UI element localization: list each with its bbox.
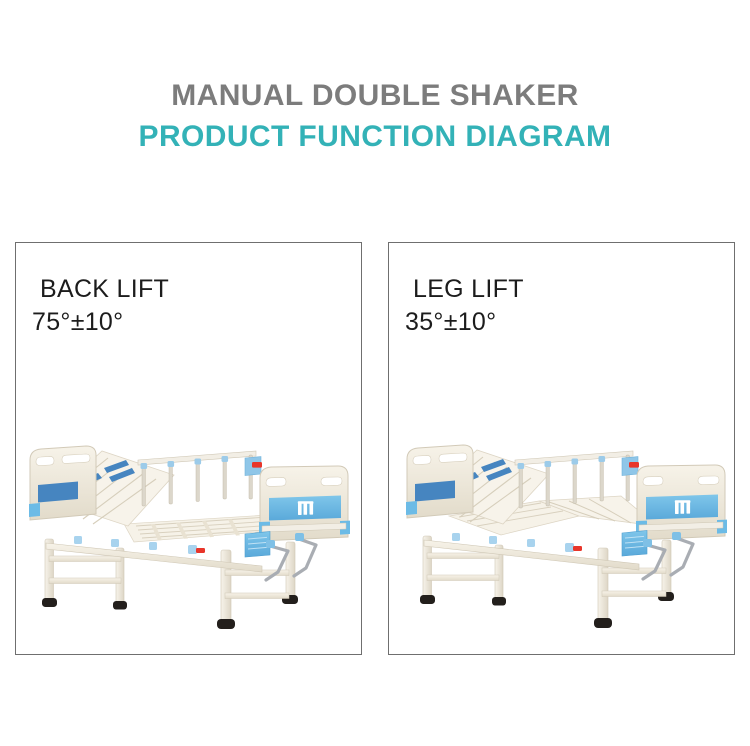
footboard [636, 465, 727, 540]
leg-lift-angle-label: 35°±10° [405, 306, 524, 339]
panel-leg-lift: LEG LIFT 35°±10° [388, 242, 735, 655]
crank-handle-leg[interactable] [294, 539, 316, 576]
rail-release-red-tab[interactable] [252, 462, 262, 468]
footboard-logo [675, 500, 691, 514]
back-lift-function-label: BACK LIFT [40, 275, 169, 303]
footboard-logo [298, 501, 314, 515]
back-lift-label-group: BACK LIFT 75°±10° [40, 273, 169, 339]
frame-release-red-tab[interactable] [196, 548, 205, 553]
leg-lift-bed-illustration [389, 438, 736, 648]
bed-svg-back-lift [16, 438, 363, 648]
page-title-block: MANUAL DOUBLE SHAKER PRODUCT FUNCTION DI… [0, 76, 750, 158]
leg-lift-label-group: LEG LIFT 35°±10° [413, 273, 524, 339]
crank-mount [266, 540, 275, 548]
bed-svg-leg-lift [389, 438, 736, 648]
page-title: MANUAL DOUBLE SHAKER [0, 76, 750, 116]
panel-back-lift: BACK LIFT 75°±10° [15, 242, 362, 655]
back-lift-angle-label: 75°±10° [32, 306, 169, 339]
footboard [259, 466, 350, 541]
headboard [29, 446, 96, 520]
crank-mount [672, 532, 681, 540]
back-lift-bed-illustration [16, 438, 363, 648]
headboard [406, 445, 473, 518]
page-subtitle: PRODUCT FUNCTION DIAGRAM [0, 116, 750, 158]
crank-mount [643, 539, 652, 547]
product-function-diagram-page: MANUAL DOUBLE SHAKER PRODUCT FUNCTION DI… [0, 0, 750, 746]
crank-mount [295, 533, 304, 541]
rail-release-red-tab[interactable] [629, 462, 639, 468]
leg-lift-function-label: LEG LIFT [413, 275, 524, 303]
frame-release-red-tab[interactable] [573, 546, 582, 551]
crank-handle-leg[interactable] [671, 538, 693, 575]
